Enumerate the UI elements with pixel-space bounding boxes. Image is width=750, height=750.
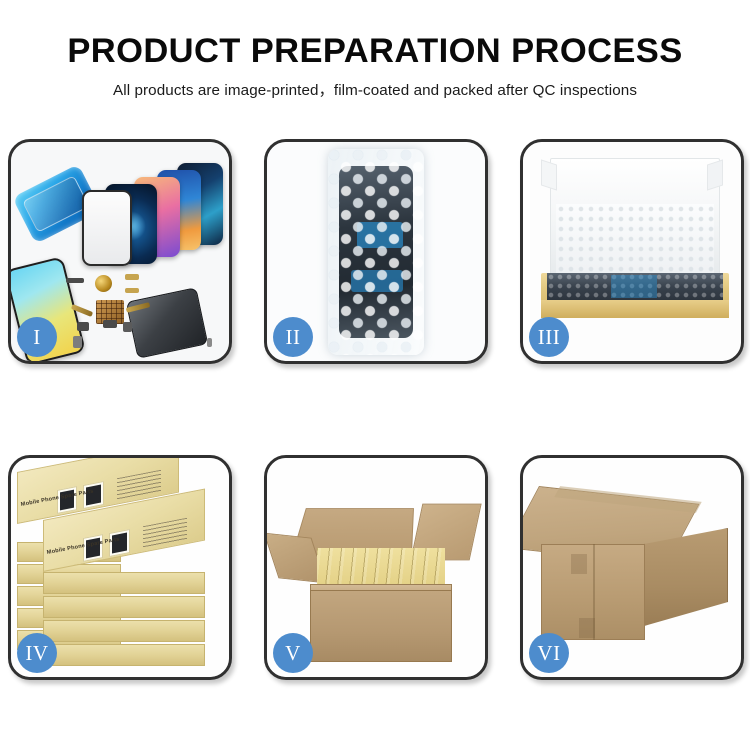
box-lid-flap-left [541, 159, 557, 190]
small-part-6 [123, 322, 132, 332]
step-badge-2: II [273, 317, 313, 357]
bubble-texture-shadow [328, 149, 424, 355]
step-badge-6: VI [529, 633, 569, 673]
retail-box-r5 [43, 644, 205, 666]
process-step-panel-6[interactable]: VI [520, 455, 744, 680]
phone-back-housing [126, 287, 208, 359]
phone-display-1 [82, 190, 132, 266]
carton-notch-lower [579, 618, 595, 638]
small-part-3 [125, 288, 139, 293]
process-step-panel-5[interactable]: V [264, 455, 488, 680]
small-part-1 [66, 278, 84, 283]
small-part-4 [77, 322, 89, 331]
process-step-panel-2[interactable]: II [264, 139, 488, 364]
product-preparation-infographic: PRODUCT PREPARATION PROCESS All products… [0, 0, 750, 750]
white-foam-padding [556, 204, 714, 276]
step-badge-3: III [529, 317, 569, 357]
speaker-coil-part-icon [95, 275, 112, 292]
retail-box-r3 [43, 596, 205, 618]
sealed-carton-side [644, 528, 728, 626]
bubble-wrap-envelope [328, 149, 424, 355]
small-part-5 [103, 320, 117, 328]
small-part-2 [125, 274, 139, 280]
small-part-8 [207, 338, 212, 347]
process-step-panel-3[interactable]: III [520, 139, 744, 364]
step-badge-1: I [17, 317, 57, 357]
step-badge-4: IV [17, 633, 57, 673]
carton-notch-upper [571, 554, 587, 574]
small-part-7 [73, 336, 82, 348]
carton-body [310, 590, 452, 662]
box-lid-flap-right [707, 159, 723, 190]
blue-film-visible [611, 275, 657, 298]
process-step-panel-4[interactable]: Mobile Phone Spare Parts Mobile Phone Sp… [8, 455, 232, 680]
kraft-box-front-wall [541, 300, 729, 318]
process-step-panel-1[interactable]: I [8, 139, 232, 364]
step-badge-5: V [273, 633, 313, 673]
page-subtitle: All products are image-printed，film-coat… [0, 78, 750, 100]
retail-box-r4 [43, 620, 205, 642]
page-title: PRODUCT PREPARATION PROCESS [0, 33, 750, 69]
retail-box-r2 [43, 572, 205, 594]
process-step-grid: I II [8, 139, 744, 680]
header: PRODUCT PREPARATION PROCESS All products… [0, 0, 750, 100]
